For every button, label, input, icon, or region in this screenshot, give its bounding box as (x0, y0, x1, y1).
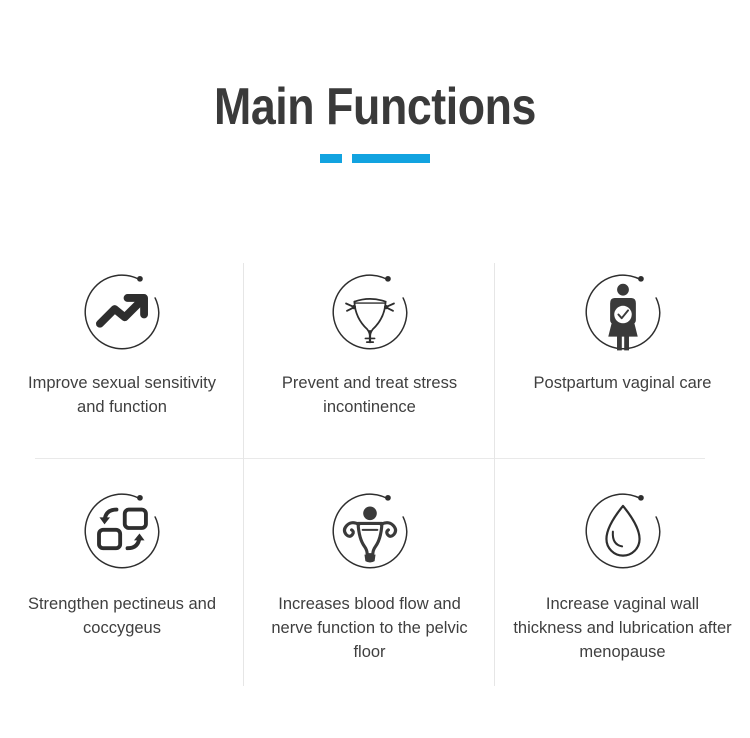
main-functions-page: Main Functions Improve sexual sensitivit… (0, 0, 750, 738)
swap-exchange-squares-icon (76, 482, 168, 574)
feature-cell-prevent-stress-incontinence: Prevent and treat stress incontinence (244, 245, 495, 458)
water-droplet-icon (577, 482, 669, 574)
page-header: Main Functions (0, 78, 750, 163)
feature-cell-improve-sexual-sensitivity: Improve sexual sensitivity and function (0, 245, 244, 458)
feature-label: Improve sexual sensitivity and function (12, 371, 232, 419)
feature-cell-postpartum-vaginal-care: Postpartum vaginal care (495, 245, 750, 458)
feature-cell-strengthen-pectineus-coccygeus: Strengthen pectineus and coccygeus (0, 458, 244, 686)
feature-label: Increase vaginal wall thickness and lubr… (511, 592, 735, 664)
feature-label: Postpartum vaginal care (534, 371, 712, 395)
page-title: Main Functions (53, 78, 698, 136)
title-accent-rule (0, 154, 750, 163)
feature-label: Prevent and treat stress incontinence (258, 371, 482, 419)
feature-cell-increase-blood-flow: Increases blood flow and nerve function … (244, 458, 495, 686)
bladder-pelvic-organ-icon (324, 263, 416, 355)
pregnant-woman-icon (577, 263, 669, 355)
uterus-ovaries-icon (324, 482, 416, 574)
trending-up-arrow-icon (76, 263, 168, 355)
feature-label: Increases blood flow and nerve function … (258, 592, 482, 664)
accent-segment-short (320, 154, 342, 163)
feature-label: Strengthen pectineus and coccygeus (12, 592, 232, 640)
feature-cell-increase-vaginal-wall-thickness: Increase vaginal wall thickness and lubr… (495, 458, 750, 686)
features-grid: Improve sexual sensitivity and function (0, 245, 750, 705)
accent-segment-long (352, 154, 430, 163)
